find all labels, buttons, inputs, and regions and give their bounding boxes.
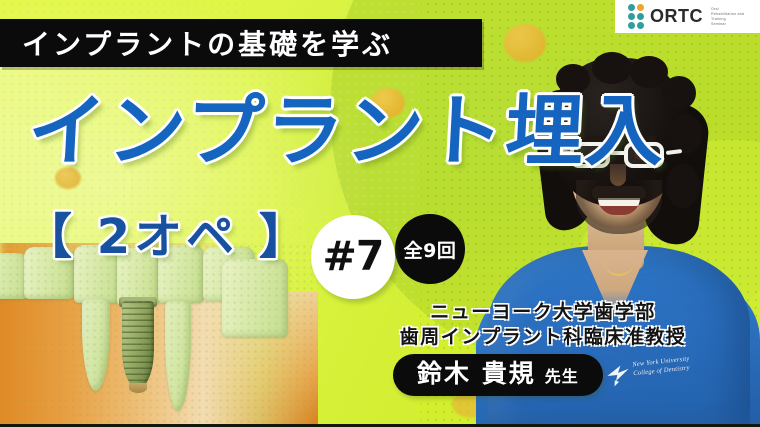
speaker-name: 鈴木 貴規 [417, 354, 536, 390]
presenter-moustache [592, 186, 646, 200]
logo-dot-6 [637, 22, 644, 29]
ortc-tagline-line-1: Oral [711, 7, 744, 11]
speaker-name-badge: 鈴木 貴規 先生 [393, 354, 603, 396]
episode-total-label: 全9回 [404, 236, 457, 263]
ortc-wordmark: ORTC [650, 6, 703, 27]
page-subtitle: 【 2オペ 】 [24, 213, 311, 261]
logo-dot-1 [628, 4, 635, 11]
presenter-hair-curl-6 [670, 114, 702, 154]
episode-total-badge: 全9回 [395, 214, 465, 284]
ortc-tagline-line-2: Rehabilitation and [711, 12, 744, 16]
speaker-honorific: 先生 [545, 363, 579, 387]
ortc-tagline-line-3: Training [711, 17, 744, 21]
presenter-hair-curl-2 [592, 52, 632, 84]
episode-number-label: #7 [323, 232, 384, 280]
ortc-logo-plate[interactable]: ORTC Oral Rehabilitation and Training Se… [615, 0, 760, 33]
speaker-affiliation-line-2: 歯周インプラント科臨床准教授 [393, 325, 693, 350]
dental-implant-illustration [0, 243, 318, 427]
episode-number-badge: #7 [311, 215, 395, 299]
ortc-tagline: Oral Rehabilitation and Training Seminar [711, 7, 744, 26]
speaker-affiliation: ニューヨーク大学歯学部 歯周インプラント科臨床准教授 [393, 300, 693, 350]
illustration-dot-texture [0, 243, 318, 427]
ortc-dot-grid-icon [628, 4, 644, 29]
logo-dot-2 [637, 4, 644, 11]
speaker-affiliation-line-1: ニューヨーク大学歯学部 [393, 300, 693, 325]
ortc-tagline-line-4: Seminar [711, 22, 744, 26]
torch-icon [604, 361, 633, 390]
page-title: インプラント埋入 [26, 93, 668, 171]
series-banner-text: インプラントの基礎を学ぶ [22, 23, 393, 63]
presenter-hair-curl-3 [630, 56, 668, 88]
logo-dot-3 [628, 13, 635, 20]
presenter-hair-curl-8 [666, 164, 700, 208]
thumbnail-canvas: New York University College of Dentistry… [0, 0, 760, 427]
series-banner: インプラントの基礎を学ぶ [0, 19, 482, 67]
logo-dot-4 [637, 13, 644, 20]
logo-dot-5 [628, 22, 635, 29]
